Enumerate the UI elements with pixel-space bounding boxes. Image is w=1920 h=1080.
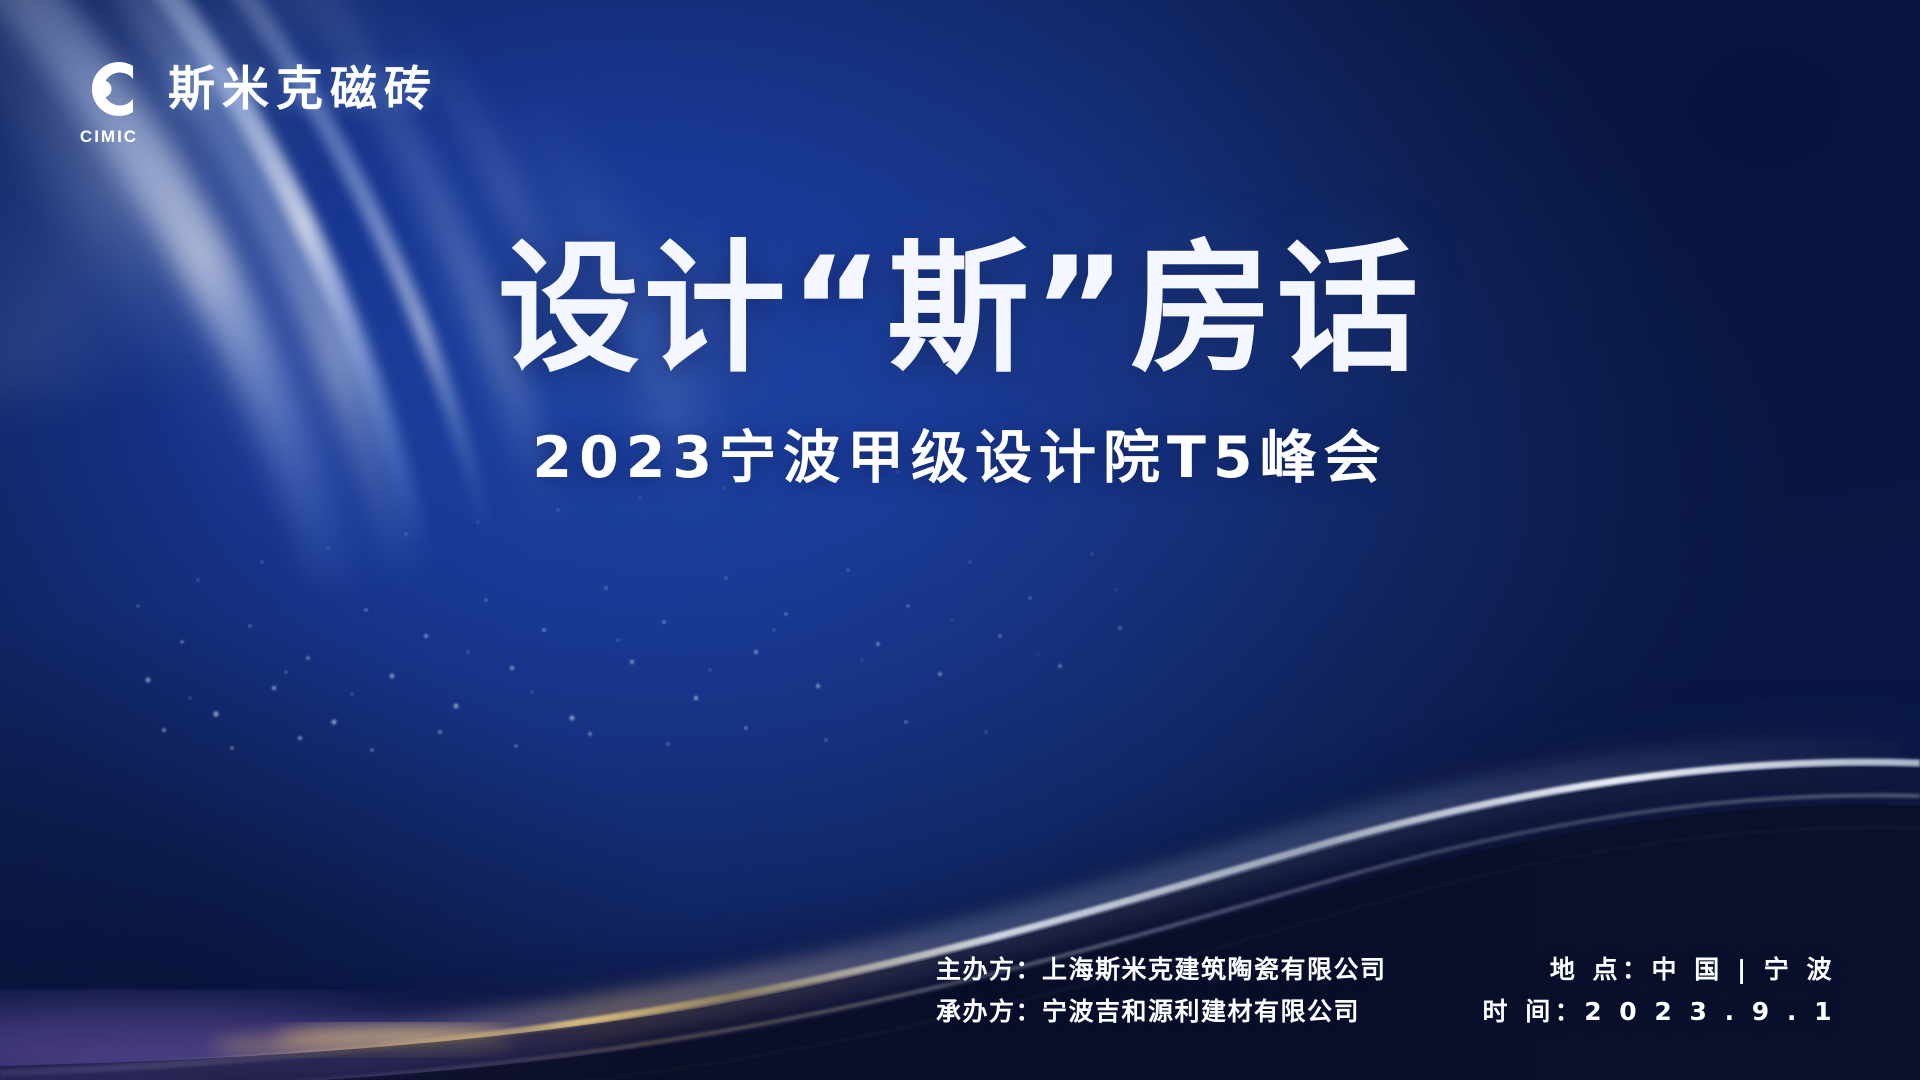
logo-chinese-name: 斯米克磁砖 <box>168 66 438 113</box>
background-vignette <box>0 0 1920 1080</box>
footer-event-details: 地 点：中 国 | 宁 波 时 间：2 0 2 3 . 9 . 1 <box>1483 955 1837 1026</box>
footer-host-line: 主办方：上海斯米克建筑陶瓷有限公司 <box>936 955 1387 984</box>
headline-block: 设计“斯”房话 2023宁波甲级设计院T5峰会 <box>0 236 1920 494</box>
footer-coorganizer-line: 承办方：宁波吉和源利建材有限公司 <box>936 997 1387 1026</box>
footer: 主办方：上海斯米克建筑陶瓷有限公司 承办方：宁波吉和源利建材有限公司 地 点：中… <box>0 955 1920 1026</box>
page-title: 设计“斯”房话 <box>0 236 1920 384</box>
page-subtitle: 2023宁波甲级设计院T5峰会 <box>0 412 1920 494</box>
brand-logo[interactable]: CIMIC 斯米克磁砖 <box>72 52 438 126</box>
footer-date-line: 时 间：2 0 2 3 . 9 . 1 <box>1483 997 1837 1026</box>
footer-location-line: 地 点：中 国 | 宁 波 <box>1483 955 1837 984</box>
logo-latin-wordmark: CIMIC <box>80 127 138 147</box>
cimic-circle-mark-icon: CIMIC <box>72 52 146 126</box>
event-banner: CIMIC 斯米克磁砖 设计“斯”房话 2023宁波甲级设计院T5峰会 主办方：… <box>0 0 1920 1080</box>
footer-organizers: 主办方：上海斯米克建筑陶瓷有限公司 承办方：宁波吉和源利建材有限公司 <box>936 955 1387 1026</box>
